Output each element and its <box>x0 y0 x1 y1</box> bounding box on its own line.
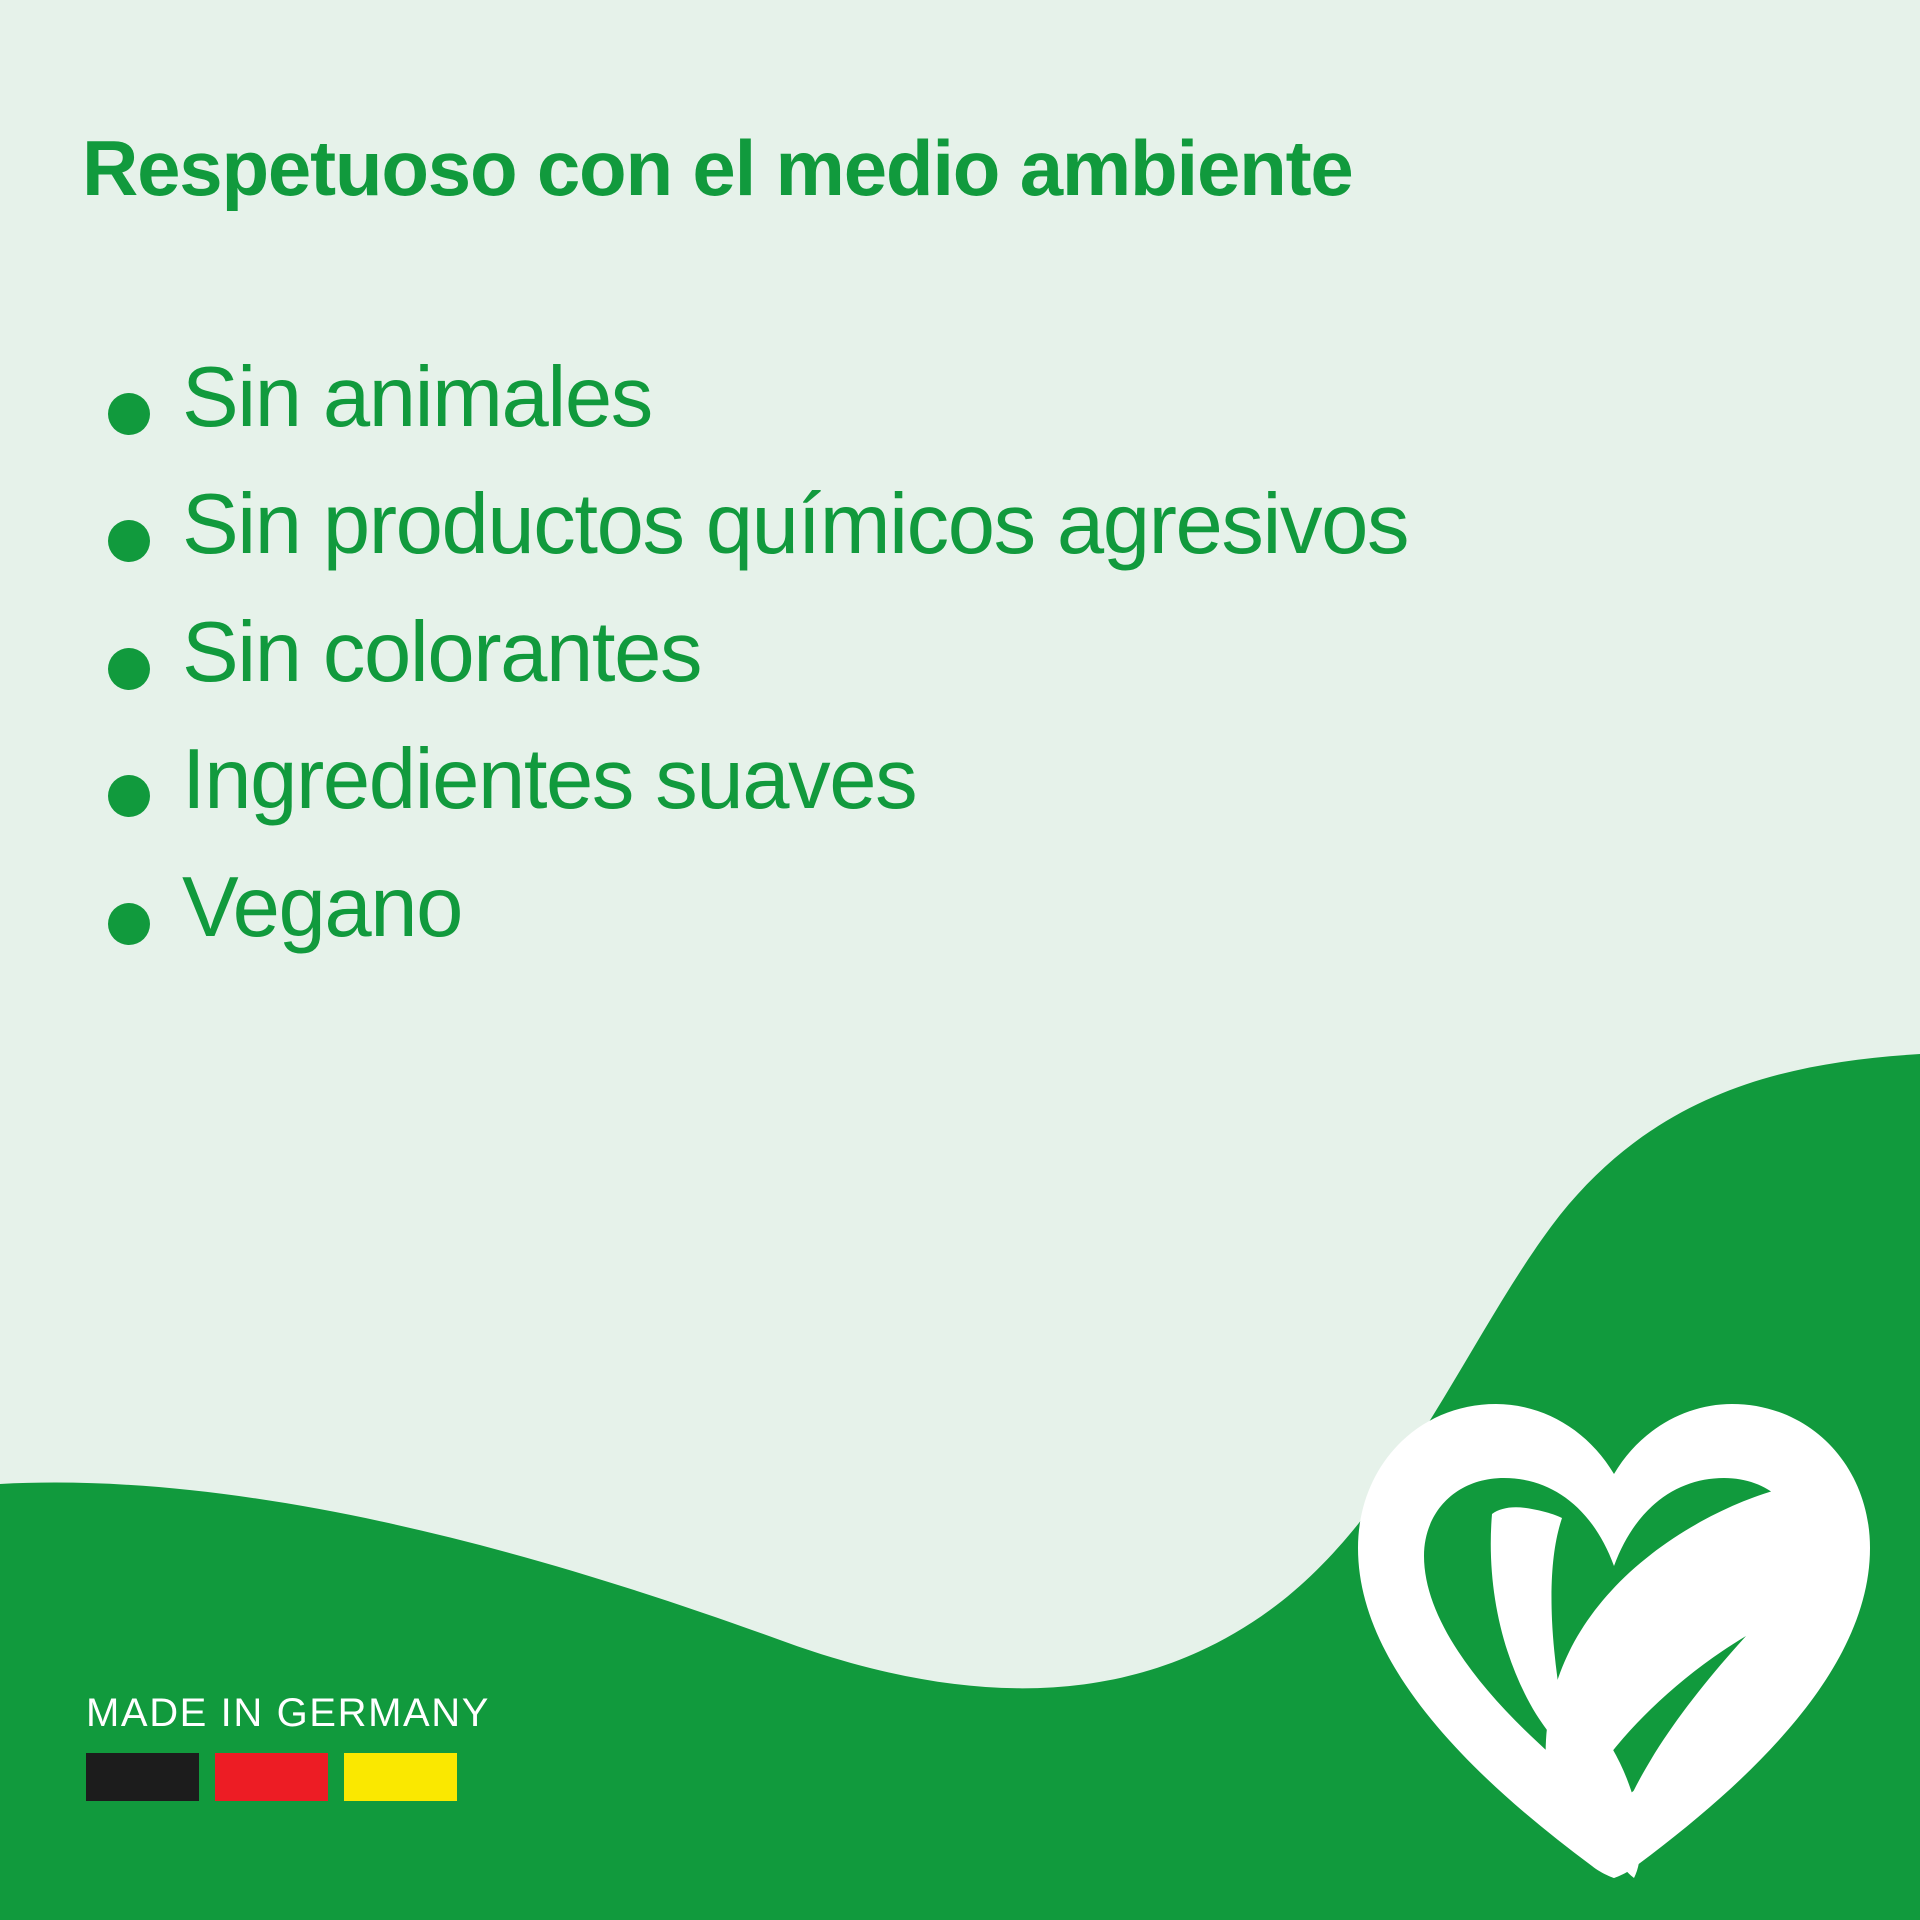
feature-list: Sin animales Sin productos químicos agre… <box>90 348 1710 957</box>
bullet-icon <box>108 775 150 817</box>
list-item-label: Sin animales <box>182 350 652 445</box>
list-item-label: Sin productos químicos agresivos <box>182 477 1408 572</box>
bullet-icon <box>108 393 150 435</box>
list-item-label: Sin colorantes <box>182 605 701 700</box>
made-in-germany-badge: MADE IN GERMANY <box>86 1693 646 1801</box>
eco-feature-card: Respetuoso con el medio ambiente Sin ani… <box>0 0 1920 1920</box>
list-item: Ingredientes suaves <box>90 730 1710 829</box>
list-item-label: Vegano <box>182 860 462 955</box>
flag-band-gold <box>344 1753 457 1801</box>
bullet-icon <box>108 903 150 945</box>
made-in-germany-label: MADE IN GERMANY <box>86 1693 646 1733</box>
bullet-icon <box>108 520 150 562</box>
flag-band-black <box>86 1753 199 1801</box>
german-flag-icon <box>86 1753 646 1801</box>
list-item: Sin animales <box>90 348 1710 447</box>
flag-band-red <box>215 1753 328 1801</box>
list-item: Vegano <box>90 858 1710 957</box>
bullet-icon <box>108 648 150 690</box>
heart-leaf-icon <box>1340 1396 1888 1896</box>
list-item-label: Ingredientes suaves <box>182 732 916 827</box>
list-item: Sin productos químicos agresivos <box>90 475 1710 574</box>
list-item: Sin colorantes <box>90 603 1710 702</box>
page-title: Respetuoso con el medio ambiente <box>82 126 1872 210</box>
